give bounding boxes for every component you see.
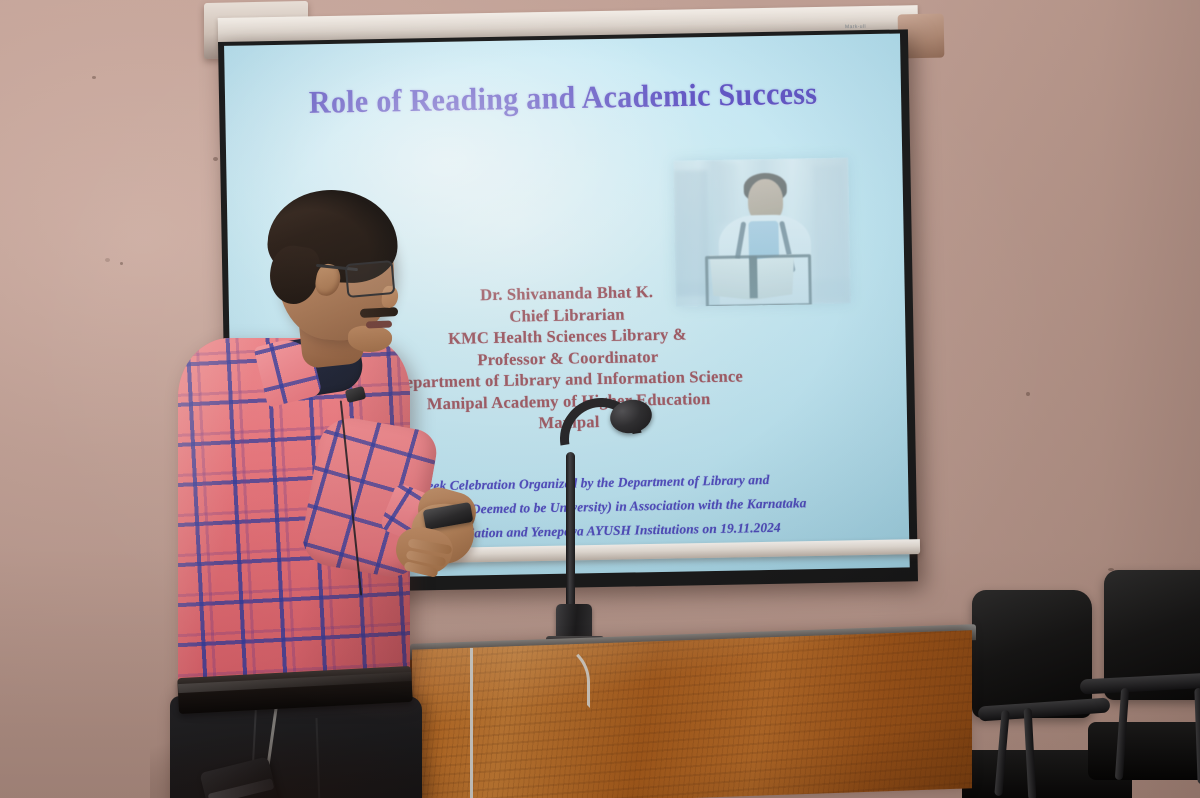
wall-blemish [1026, 392, 1030, 396]
speaker-moustache [360, 307, 398, 318]
lecture-photo-scene: Mark-ull Role of Reading and Academic Su… [0, 0, 1200, 798]
mic-cable-drop [470, 648, 583, 798]
speaker [150, 190, 480, 798]
glasses-icon [345, 260, 396, 298]
chair-backrest [972, 590, 1092, 718]
mic-stem [566, 452, 575, 608]
speaker-floor-shadow [150, 728, 480, 798]
chair-right [1088, 570, 1200, 798]
wall-blemish [105, 258, 110, 262]
speaker-mouth [366, 321, 392, 329]
wall-blemish [120, 262, 123, 265]
slide-title: Role of Reading and Academic Success [225, 74, 902, 122]
wall-blemish [92, 76, 96, 79]
chair-seat [1088, 722, 1200, 780]
